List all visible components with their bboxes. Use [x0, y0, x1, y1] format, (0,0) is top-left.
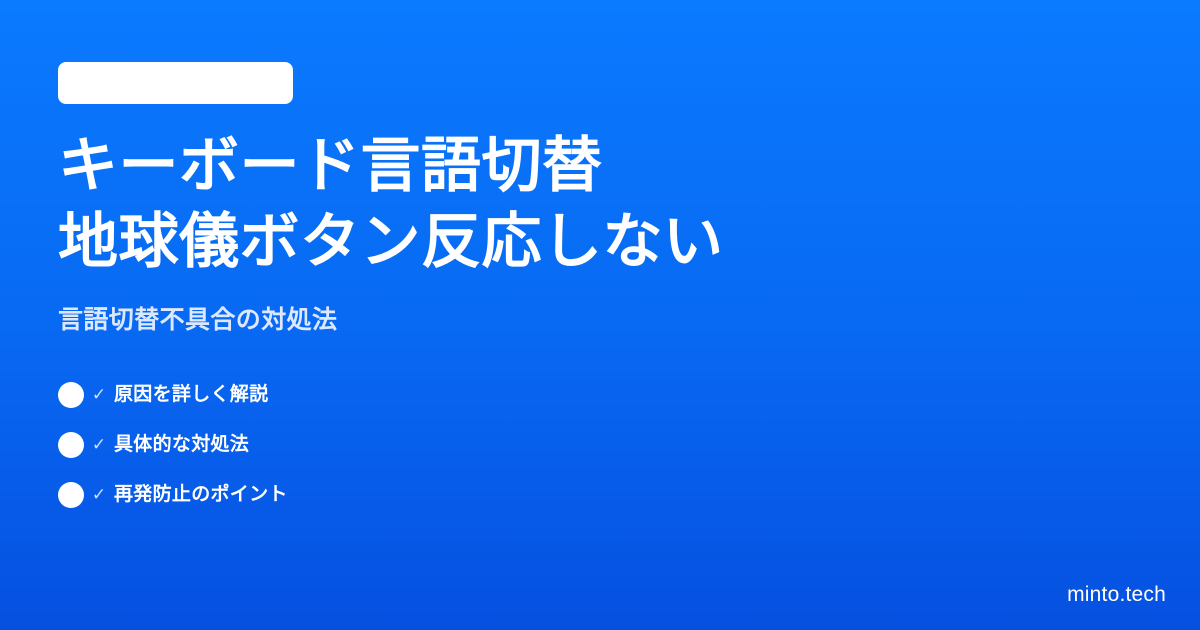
og-image-card: キーボード言語切替 地球儀ボタン反応しない 言語切替不具合の対処法 ✓ 原因を詳…: [0, 0, 1200, 630]
bullet-dot-icon: [58, 482, 84, 508]
list-item: ✓ 原因を詳しく解説: [58, 381, 288, 409]
page-subtitle: 言語切替不具合の対処法: [58, 303, 337, 337]
check-icon: ✓: [84, 381, 114, 409]
highlight-list: ✓ 原因を詳しく解説 ✓ 具体的な対処法 ✓ 再発防止のポイント: [58, 381, 288, 509]
list-item-label: 再発防止のポイント: [114, 481, 288, 509]
check-icon: ✓: [84, 431, 114, 459]
check-icon: ✓: [84, 481, 114, 509]
list-item-label: 原因を詳しく解説: [114, 381, 268, 409]
site-brand: minto.tech: [1067, 582, 1166, 608]
list-item-label: 具体的な対処法: [114, 431, 249, 459]
category-badge: [58, 62, 293, 104]
bullet-dot-icon: [58, 382, 84, 408]
list-item: ✓ 再発防止のポイント: [58, 481, 288, 509]
page-title-line-2: 地球儀ボタン反応しない: [58, 204, 1098, 280]
page-title: キーボード言語切替 地球儀ボタン反応しない: [58, 128, 1098, 280]
list-item: ✓ 具体的な対処法: [58, 431, 288, 459]
bullet-dot-icon: [58, 432, 84, 458]
page-title-line-1: キーボード言語切替: [58, 128, 1098, 204]
